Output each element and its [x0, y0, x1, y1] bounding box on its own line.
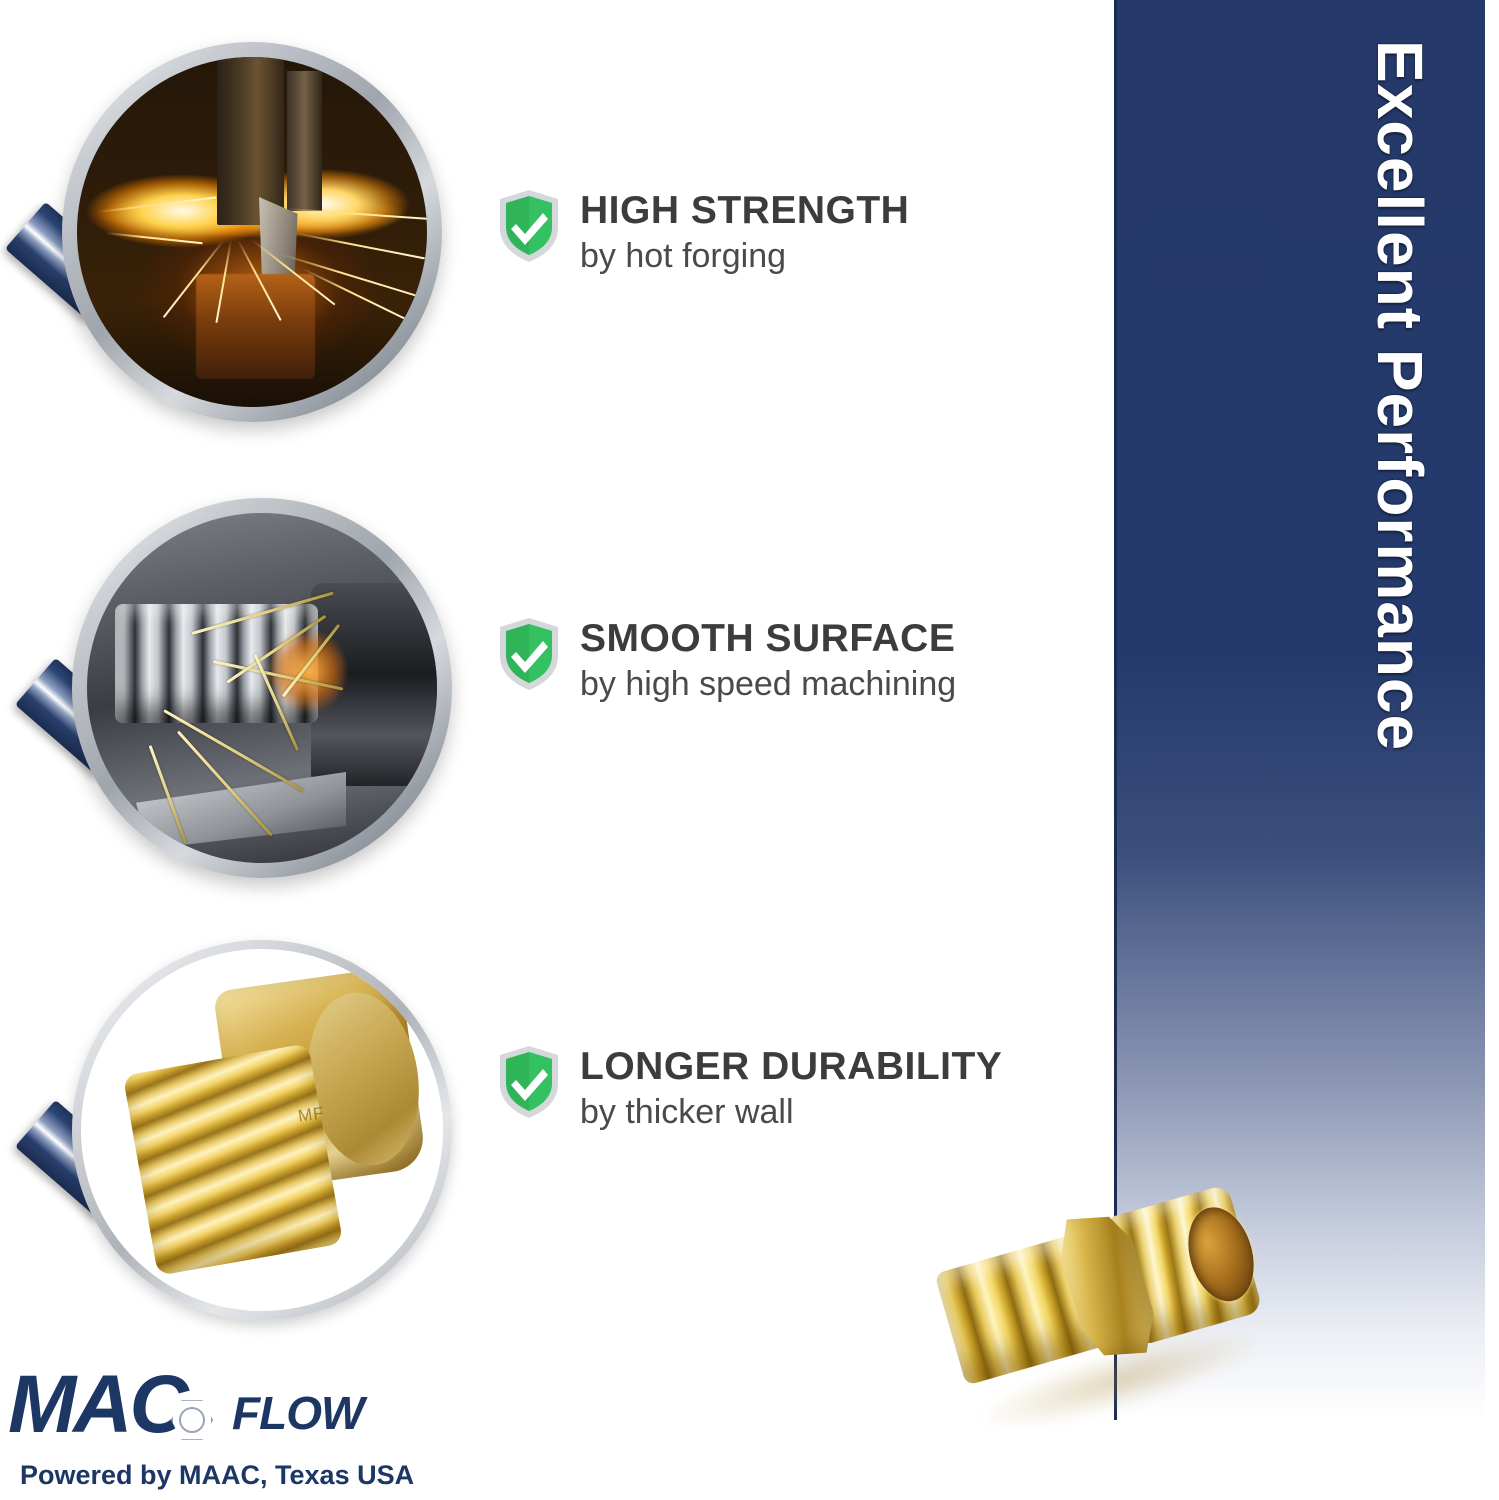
magnifier-thicker-wall: MF	[72, 940, 452, 1320]
feature-row-high-strength: HIGH STRENGTH by hot forging	[496, 186, 909, 278]
feature-title: SMOOTH SURFACE	[580, 617, 955, 660]
hex-nut-inner-icon	[179, 1407, 205, 1433]
magnifier-hot-forging	[62, 42, 442, 422]
performance-title: Excellent Performance	[1365, 40, 1435, 751]
logo-tagline: Powered by MAAC, Texas USA	[20, 1460, 414, 1490]
feature-row-smooth-surface: SMOOTH SURFACE by high speed machining	[496, 614, 956, 706]
magnifier-ring	[72, 498, 452, 878]
green-shield-check-icon	[496, 1044, 562, 1120]
product-infographic: MF HIGH STRENGTH by hot forging	[0, 0, 1499, 1500]
feature-subtitle: by high speed machining	[580, 662, 956, 706]
magnifier-ring	[62, 42, 442, 422]
feature-text-block: HIGH STRENGTH by hot forging	[580, 186, 909, 278]
magnifier-lens-hot-forging	[77, 57, 427, 407]
photo-hot-forging	[77, 57, 427, 407]
green-shield-check-icon	[496, 188, 562, 264]
logo-mark: MAC FLOW	[8, 1368, 408, 1450]
logo-brand-primary: MAC	[8, 1364, 186, 1446]
feature-subtitle: by hot forging	[580, 234, 909, 278]
brand-logo: MAC FLOW Powered by MAAC, Texas USA	[8, 1368, 428, 1494]
magnifier-lens-brass-plug: MF	[81, 949, 443, 1311]
magnifier-lens-machining	[87, 513, 437, 863]
performance-title-wrap: Excellent Performance	[1340, 40, 1460, 1000]
magnifier-ring: MF	[72, 940, 452, 1320]
product-brass-hose-barb-fitting	[928, 1168, 1283, 1481]
feature-text-block: LONGER DURABILITY by thicker wall	[580, 1042, 1002, 1134]
part-marking: MF	[297, 1103, 326, 1127]
photo-brass-plug: MF	[81, 949, 443, 1311]
green-shield-check-icon	[496, 616, 562, 692]
logo-brand-secondary: FLOW	[232, 1390, 363, 1436]
feature-row-longer-durability: LONGER DURABILITY by thicker wall	[496, 1042, 1002, 1134]
magnifier-high-speed-machining	[72, 498, 452, 878]
photo-cnc-machining	[87, 513, 437, 863]
feature-text-block: SMOOTH SURFACE by high speed machining	[580, 614, 956, 706]
feature-subtitle: by thicker wall	[580, 1090, 1002, 1134]
feature-title: HIGH STRENGTH	[580, 189, 909, 232]
feature-title: LONGER DURABILITY	[580, 1045, 1002, 1088]
